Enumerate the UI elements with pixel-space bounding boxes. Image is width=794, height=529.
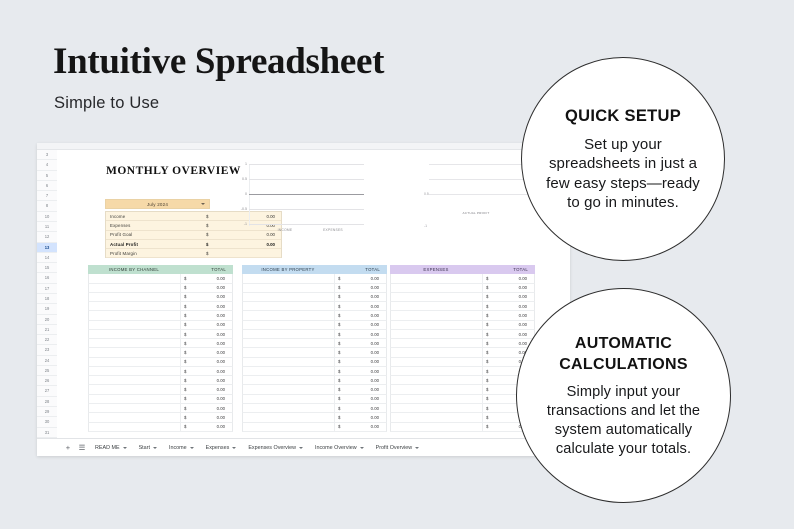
table-header-total: TOTAL	[482, 267, 535, 272]
table-cell-name[interactable]	[391, 321, 483, 329]
sheet-top-strip	[37, 143, 570, 150]
table-row[interactable]: $0.00	[88, 376, 233, 385]
table-cell-name[interactable]	[89, 423, 181, 431]
table-cell-name[interactable]	[391, 330, 483, 338]
row-header-25[interactable]: 25	[37, 366, 57, 376]
table-row[interactable]: $0.00	[242, 395, 387, 404]
table-cell-name[interactable]	[243, 284, 335, 292]
table-cell-currency: $	[335, 378, 357, 383]
sheet-tab-label: READ ME	[95, 445, 120, 451]
table-row[interactable]: $0.00	[242, 339, 387, 348]
table-row[interactable]: $0.00	[242, 413, 387, 422]
table-cell-currency: $	[181, 378, 203, 383]
row-header-3[interactable]: 3	[37, 150, 57, 160]
month-selector-value: July 2024	[147, 202, 168, 207]
table-cell-currency: $	[335, 341, 357, 346]
row-header-28[interactable]: 28	[37, 397, 57, 407]
table-cell-name[interactable]	[391, 311, 483, 319]
row-header-26[interactable]: 26	[37, 376, 57, 386]
table-row[interactable]: $0.00	[242, 321, 387, 330]
chart-ytick: 0	[245, 192, 247, 196]
summary-currency: $	[206, 214, 238, 219]
table-cell-total: 0.00	[505, 313, 534, 318]
row-header-29[interactable]: 29	[37, 407, 57, 417]
row-header-14[interactable]: 14	[37, 253, 57, 263]
table-cell-currency: $	[483, 387, 505, 392]
table-cell-total: 0.00	[203, 387, 232, 392]
table-cell-name[interactable]	[89, 339, 181, 347]
sheet-tab-label: Expenses Overview	[248, 445, 296, 451]
table-cell-name[interactable]	[243, 311, 335, 319]
chart-xtick-actual-profit: ACTUAL PROFIT	[461, 212, 491, 216]
table-cell-currency: $	[181, 322, 203, 327]
table-row[interactable]: $0.00	[88, 348, 233, 357]
table-header-row: INCOME BY PROPERTY TOTAL	[242, 265, 387, 274]
table-cell-total: 0.00	[505, 304, 534, 309]
table-cell-currency: $	[483, 276, 505, 281]
table-cell-total: 0.00	[357, 276, 386, 281]
table-cell-total: 0.00	[357, 406, 386, 411]
table-cell-currency: $	[181, 350, 203, 355]
chart-gridline	[429, 194, 534, 195]
chevron-down-icon[interactable]	[201, 203, 205, 205]
table-cell-currency: $	[483, 350, 505, 355]
table-row[interactable]: $0.00	[390, 376, 535, 385]
table-cell-currency: $	[335, 304, 357, 309]
table-cell-name[interactable]	[243, 395, 335, 403]
table-cell-currency: $	[181, 406, 203, 411]
row-header-31[interactable]: 31	[37, 428, 57, 438]
sheet-tab-label: Expenses	[206, 445, 230, 451]
table-cell-currency: $	[483, 415, 505, 420]
chart-xtick-expenses: EXPENSES	[311, 228, 355, 232]
chart-ytick: -1	[424, 224, 427, 228]
callout-quick-setup: QUICK SETUP Set up your spreadsheets in …	[521, 57, 725, 261]
table-cell-currency: $	[483, 406, 505, 411]
table-cell-name[interactable]	[89, 302, 181, 310]
table-cell-name[interactable]	[243, 339, 335, 347]
row-header-30[interactable]: 30	[37, 417, 57, 427]
table-cell-currency: $	[335, 359, 357, 364]
row-header-27[interactable]: 27	[37, 386, 57, 396]
table-cell-name[interactable]	[391, 367, 483, 375]
chevron-down-icon[interactable]	[299, 447, 303, 449]
table-cell-currency: $	[335, 387, 357, 392]
table-row[interactable]: $0.00	[390, 404, 535, 413]
row-header-15[interactable]: 15	[37, 263, 57, 273]
table-cell-name[interactable]	[391, 284, 483, 292]
row-header-8[interactable]: 8	[37, 201, 57, 211]
table-cell-total: 0.00	[357, 304, 386, 309]
summary-row[interactable]: Profit Margin$	[106, 249, 281, 258]
table-cell-currency: $	[335, 313, 357, 318]
table-cell-total: 0.00	[505, 276, 534, 281]
table-cell-name[interactable]	[243, 413, 335, 421]
row-header-6[interactable]: 6	[37, 181, 57, 191]
table-row[interactable]: $0.00	[88, 330, 233, 339]
chart-ytick: 0.5	[424, 192, 429, 196]
table-cell-currency: $	[181, 359, 203, 364]
table-cell-currency: $	[483, 396, 505, 401]
row-header-18[interactable]: 18	[37, 294, 57, 304]
table-cell-total: 0.00	[357, 415, 386, 420]
chevron-down-icon[interactable]	[153, 447, 157, 449]
chart-ytick: -0.5	[241, 207, 247, 211]
row-header-12[interactable]: 12	[37, 232, 57, 242]
table-cell-currency: $	[181, 294, 203, 299]
table-row[interactable]: $0.00	[390, 293, 535, 302]
table-cell-name[interactable]	[243, 423, 335, 431]
table-cell-currency: $	[335, 294, 357, 299]
month-selector-dropdown[interactable]: July 2024	[105, 199, 210, 209]
table-cell-currency: $	[335, 322, 357, 327]
table-cell-currency: $	[181, 369, 203, 374]
table-row[interactable]: $0.00	[88, 339, 233, 348]
row-header-gutter[interactable]: 3456781011121314151617181920212223242526…	[37, 150, 57, 438]
row-header-13[interactable]: 13	[37, 243, 57, 253]
monthly-overview-title: MONTHLY OVERVIEW	[106, 165, 241, 177]
table-row[interactable]: $0.00	[242, 348, 387, 357]
spreadsheet-window: 3456781011121314151617181920212223242526…	[37, 143, 570, 456]
row-header-23[interactable]: 23	[37, 345, 57, 355]
sheet-tab-label: Income	[169, 445, 187, 451]
table-cell-total: 0.00	[357, 313, 386, 318]
add-sheet-icon[interactable]: +	[61, 443, 75, 452]
chart-gridline	[249, 164, 364, 165]
table-cell-name[interactable]	[89, 284, 181, 292]
summary-label: Actual Profit	[106, 242, 206, 247]
table-row[interactable]: $0.00	[242, 385, 387, 394]
chevron-down-icon[interactable]	[123, 447, 127, 449]
summary-label: Income	[106, 214, 206, 219]
table-cell-currency: $	[181, 387, 203, 392]
table-row[interactable]: $0.00	[390, 423, 535, 432]
row-header-7[interactable]: 7	[37, 191, 57, 201]
all-sheets-menu-icon[interactable]: ☰	[75, 443, 89, 452]
table-cell-total: 0.00	[357, 387, 386, 392]
chevron-down-icon[interactable]	[415, 447, 419, 449]
table-row[interactable]: $0.00	[242, 274, 387, 283]
table-row[interactable]: $0.00	[390, 302, 535, 311]
table-cell-currency: $	[483, 359, 505, 364]
table-cell-name[interactable]	[243, 321, 335, 329]
sheet-tab-income-overview[interactable]: Income Overview	[309, 445, 370, 451]
table-row[interactable]: $0.00	[390, 385, 535, 394]
table-row[interactable]: $0.00	[88, 284, 233, 293]
table-cell-name[interactable]	[243, 330, 335, 338]
chart-ytick: -1	[244, 222, 247, 226]
table-header-row: EXPENSES TOTAL	[390, 265, 535, 274]
table-header-label: INCOME BY PROPERTY	[242, 267, 334, 272]
table-cell-name[interactable]	[243, 385, 335, 393]
page-title: Intuitive Spreadsheet	[53, 40, 384, 83]
row-header-4[interactable]: 4	[37, 160, 57, 170]
callout-body: Simply input your transactions and let t…	[539, 383, 708, 459]
table-cell-name[interactable]	[89, 358, 181, 366]
summary-label: Profit Goal	[106, 232, 206, 237]
table-row[interactable]: $0.00	[242, 311, 387, 320]
table-cell-currency: $	[181, 332, 203, 337]
table-row[interactable]: $0.00	[390, 274, 535, 283]
table-cell-total: 0.00	[203, 294, 232, 299]
chart-gridline	[249, 224, 364, 225]
sheet-tab-expenses-overview[interactable]: Expenses Overview	[242, 445, 309, 451]
table-cell-name[interactable]	[89, 311, 181, 319]
sheet-tab-expenses[interactable]: Expenses	[200, 445, 243, 451]
table-row[interactable]: $0.00	[390, 358, 535, 367]
summary-label: Expenses	[106, 223, 206, 228]
table-cell-name[interactable]	[243, 358, 335, 366]
table-cell-currency: $	[181, 304, 203, 309]
sheet-tab-income[interactable]: Income	[163, 445, 200, 451]
table-row[interactable]: $0.00	[88, 321, 233, 330]
table-row[interactable]: $0.00	[242, 284, 387, 293]
table-cell-name[interactable]	[89, 413, 181, 421]
table-cell-total: 0.00	[203, 415, 232, 420]
table-income-by-channel: INCOME BY CHANNEL TOTAL $0.00$0.00$0.00$…	[88, 265, 233, 432]
table-header-label: EXPENSES	[390, 267, 482, 272]
table-cell-total: 0.00	[357, 369, 386, 374]
sheet-tab-read-me[interactable]: READ ME	[89, 445, 133, 451]
table-cell-currency: $	[483, 304, 505, 309]
row-header-10[interactable]: 10	[37, 212, 57, 222]
table-row[interactable]: $0.00	[88, 358, 233, 367]
income-expenses-chart[interactable]: 1 0.5 0 -0.5 -1 INCOME EXPENSES	[249, 164, 379, 240]
table-cell-name[interactable]	[89, 293, 181, 301]
row-header-20[interactable]: 20	[37, 315, 57, 325]
table-row[interactable]: $0.00	[390, 321, 535, 330]
row-header-21[interactable]: 21	[37, 325, 57, 335]
callout-heading: AUTOMATIC CALCULATIONS	[539, 333, 708, 375]
table-cell-total: 0.00	[505, 332, 534, 337]
table-cell-total: 0.00	[203, 304, 232, 309]
table-cell-total: 0.00	[203, 332, 232, 337]
summary-value: 0.00	[238, 242, 281, 247]
row-header-22[interactable]: 22	[37, 335, 57, 345]
table-cell-currency: $	[483, 341, 505, 346]
table-cell-name[interactable]	[243, 293, 335, 301]
table-cell-currency: $	[181, 313, 203, 318]
table-row[interactable]: $0.00	[390, 367, 535, 376]
sheet-tab-label: Income Overview	[315, 445, 357, 451]
table-row[interactable]: $0.00	[390, 395, 535, 404]
table-cell-name[interactable]	[391, 358, 483, 366]
table-cell-total: 0.00	[357, 341, 386, 346]
table-row[interactable]: $0.00	[88, 395, 233, 404]
table-cell-total: 0.00	[203, 341, 232, 346]
table-cell-currency: $	[335, 276, 357, 281]
sheet-tab-profit-overview[interactable]: Profit Overview	[370, 445, 426, 451]
table-cell-name[interactable]	[89, 321, 181, 329]
table-cell-name[interactable]	[391, 404, 483, 412]
row-header-19[interactable]: 19	[37, 304, 57, 314]
table-cell-total: 0.00	[357, 294, 386, 299]
table-cell-name[interactable]	[89, 395, 181, 403]
table-cell-name[interactable]	[89, 404, 181, 412]
table-cell-name[interactable]	[391, 302, 483, 310]
table-row[interactable]: $0.00	[88, 274, 233, 283]
callout-heading: QUICK SETUP	[565, 106, 681, 126]
table-cell-total: 0.00	[203, 378, 232, 383]
chart-gridline	[429, 179, 534, 180]
table-income-by-property: INCOME BY PROPERTY TOTAL $0.00$0.00$0.00…	[242, 265, 387, 432]
table-cell-total: 0.00	[203, 313, 232, 318]
table-cell-total: 0.00	[357, 359, 386, 364]
table-cell-name[interactable]	[89, 348, 181, 356]
table-cell-name[interactable]	[391, 385, 483, 393]
chevron-down-icon[interactable]	[360, 447, 364, 449]
table-cell-currency: $	[181, 424, 203, 429]
table-cell-total: 0.00	[203, 276, 232, 281]
table-cell-name[interactable]	[391, 293, 483, 301]
table-row[interactable]: $0.00	[390, 348, 535, 357]
table-cell-currency: $	[181, 285, 203, 290]
summary-currency: $	[206, 242, 238, 247]
chart-ytick: 0.5	[242, 177, 247, 181]
table-cell-currency: $	[181, 341, 203, 346]
table-cell-currency: $	[335, 369, 357, 374]
row-header-16[interactable]: 16	[37, 273, 57, 283]
table-row[interactable]: $0.00	[242, 302, 387, 311]
table-cell-currency: $	[181, 276, 203, 281]
table-cell-currency: $	[483, 332, 505, 337]
table-cell-currency: $	[335, 396, 357, 401]
table-cell-total: 0.00	[357, 332, 386, 337]
table-cell-total: 0.00	[357, 322, 386, 327]
table-header-label: INCOME BY CHANNEL	[88, 267, 180, 272]
table-cell-total: 0.00	[203, 406, 232, 411]
table-cell-name[interactable]	[243, 274, 335, 282]
table-cell-currency: $	[483, 322, 505, 327]
table-row[interactable]: $0.00	[88, 367, 233, 376]
row-header-5[interactable]: 5	[37, 171, 57, 181]
table-cell-currency: $	[335, 424, 357, 429]
table-cell-total: 0.00	[203, 369, 232, 374]
table-row[interactable]: $0.00	[88, 404, 233, 413]
table-cell-currency: $	[483, 294, 505, 299]
table-cell-total: 0.00	[203, 396, 232, 401]
table-row[interactable]: $0.00	[242, 367, 387, 376]
row-header-11[interactable]: 11	[37, 222, 57, 232]
sheet-canvas[interactable]: MONTHLY OVERVIEW July 2024 Income$0.00Ex…	[57, 150, 570, 438]
table-cell-name[interactable]	[243, 348, 335, 356]
table-cell-currency: $	[335, 332, 357, 337]
table-cell-name[interactable]	[89, 274, 181, 282]
table-cell-name[interactable]	[391, 339, 483, 347]
chart-gridline	[249, 209, 364, 210]
chart-ytick: 1	[245, 162, 247, 166]
table-row[interactable]: $0.00	[390, 413, 535, 422]
table-cell-name[interactable]	[391, 376, 483, 384]
table-cell-name[interactable]	[89, 385, 181, 393]
table-cell-name[interactable]	[243, 302, 335, 310]
table-cell-currency: $	[335, 285, 357, 290]
table-cell-total: 0.00	[357, 350, 386, 355]
table-row[interactable]: $0.00	[88, 302, 233, 311]
table-cell-name[interactable]	[243, 376, 335, 384]
table-row[interactable]: $0.00	[390, 339, 535, 348]
table-header-total: TOTAL	[180, 267, 233, 272]
promo-graphic: Intuitive Spreadsheet Simple to Use 3456…	[0, 0, 794, 529]
table-cell-name[interactable]	[89, 367, 181, 375]
table-cell-total: 0.00	[505, 322, 534, 327]
table-row[interactable]: $0.00	[242, 330, 387, 339]
callout-body: Set up your spreadsheets in just a few e…	[544, 135, 702, 213]
sheet-tab-label: Profit Overview	[376, 445, 413, 451]
table-cell-currency: $	[335, 415, 357, 420]
table-row[interactable]: $0.00	[242, 423, 387, 432]
page-subtitle: Simple to Use	[54, 94, 159, 113]
table-row[interactable]: $0.00	[390, 330, 535, 339]
table-cell-name[interactable]	[243, 367, 335, 375]
chevron-down-icon[interactable]	[190, 447, 194, 449]
table-cell-total: 0.00	[203, 424, 232, 429]
table-cell-total: 0.00	[203, 359, 232, 364]
summary-currency: $	[206, 223, 238, 228]
summary-row[interactable]: Actual Profit$0.00	[106, 240, 281, 249]
table-row[interactable]: $0.00	[242, 376, 387, 385]
table-header-row: INCOME BY CHANNEL TOTAL	[88, 265, 233, 274]
table-cell-currency: $	[483, 313, 505, 318]
table-cell-name[interactable]	[391, 395, 483, 403]
table-cell-total: 0.00	[505, 294, 534, 299]
table-cell-currency: $	[335, 350, 357, 355]
table-cell-currency: $	[483, 378, 505, 383]
table-row[interactable]: $0.00	[390, 311, 535, 320]
table-row[interactable]: $0.00	[88, 293, 233, 302]
table-cell-total: 0.00	[357, 378, 386, 383]
table-cell-total: 0.00	[203, 322, 232, 327]
table-row[interactable]: $0.00	[242, 293, 387, 302]
table-cell-name[interactable]	[391, 274, 483, 282]
table-row[interactable]: $0.00	[242, 358, 387, 367]
row-header-24[interactable]: 24	[37, 356, 57, 366]
table-row[interactable]: $0.00	[88, 385, 233, 394]
chart-xtick-income: INCOME	[265, 228, 305, 232]
chevron-down-icon[interactable]	[232, 447, 236, 449]
table-row[interactable]: $0.00	[242, 404, 387, 413]
table-cell-currency: $	[181, 396, 203, 401]
callout-automatic-calculations: AUTOMATIC CALCULATIONS Simply input your…	[516, 288, 731, 503]
table-cell-total: 0.00	[203, 285, 232, 290]
table-expenses: EXPENSES TOTAL $0.00$0.00$0.00$0.00$0.00…	[390, 265, 535, 432]
table-row[interactable]: $0.00	[88, 311, 233, 320]
sheet-tab-label: Start	[139, 445, 150, 451]
table-cell-total: 0.00	[357, 285, 386, 290]
chart-gridline	[429, 164, 534, 165]
sheet-tab-bar[interactable]: + ☰ READ MEStartIncomeExpensesExpenses O…	[37, 438, 570, 456]
table-cell-name[interactable]	[243, 404, 335, 412]
table-cell-name[interactable]	[391, 413, 483, 421]
table-cell-name[interactable]	[89, 376, 181, 384]
table-cell-currency: $	[483, 285, 505, 290]
chart-zero-line	[249, 194, 364, 195]
table-row[interactable]: $0.00	[88, 413, 233, 422]
table-cell-currency: $	[335, 406, 357, 411]
table-cell-total: 0.00	[203, 350, 232, 355]
sheet-tab-start[interactable]: Start	[133, 445, 163, 451]
row-header-17[interactable]: 17	[37, 284, 57, 294]
table-cell-name[interactable]	[391, 348, 483, 356]
table-cell-currency: $	[483, 369, 505, 374]
table-cell-name[interactable]	[391, 423, 483, 431]
table-cell-total: 0.00	[505, 285, 534, 290]
chart-gridline	[249, 179, 364, 180]
table-row[interactable]: $0.00	[88, 423, 233, 432]
table-row[interactable]: $0.00	[390, 284, 535, 293]
table-cell-name[interactable]	[89, 330, 181, 338]
table-cell-currency: $	[483, 424, 505, 429]
